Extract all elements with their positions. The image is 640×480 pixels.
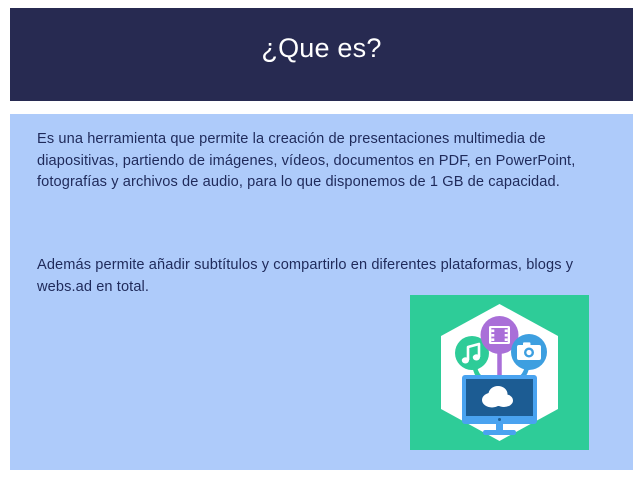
slide-canvas: ¿Que es? Es una herramienta que permite … <box>0 0 640 480</box>
page-title: ¿Que es? <box>261 33 381 64</box>
body-paragraph-2: Además permite añadir subtítulos y compa… <box>37 255 612 298</box>
camera-icon <box>511 334 547 370</box>
slide-body-panel: Es una herramienta que permite la creaci… <box>10 114 633 470</box>
slide-title-bar: ¿Que es? <box>10 8 633 101</box>
body-paragraph-2-text: Además permite añadir subtítulos y compa… <box>37 255 612 298</box>
body-paragraph-1: Es una herramienta que permite la creaci… <box>37 129 612 194</box>
cloud-media-illustration <box>410 295 589 450</box>
body-paragraph-1-text: Es una herramienta que permite la creaci… <box>37 129 612 194</box>
